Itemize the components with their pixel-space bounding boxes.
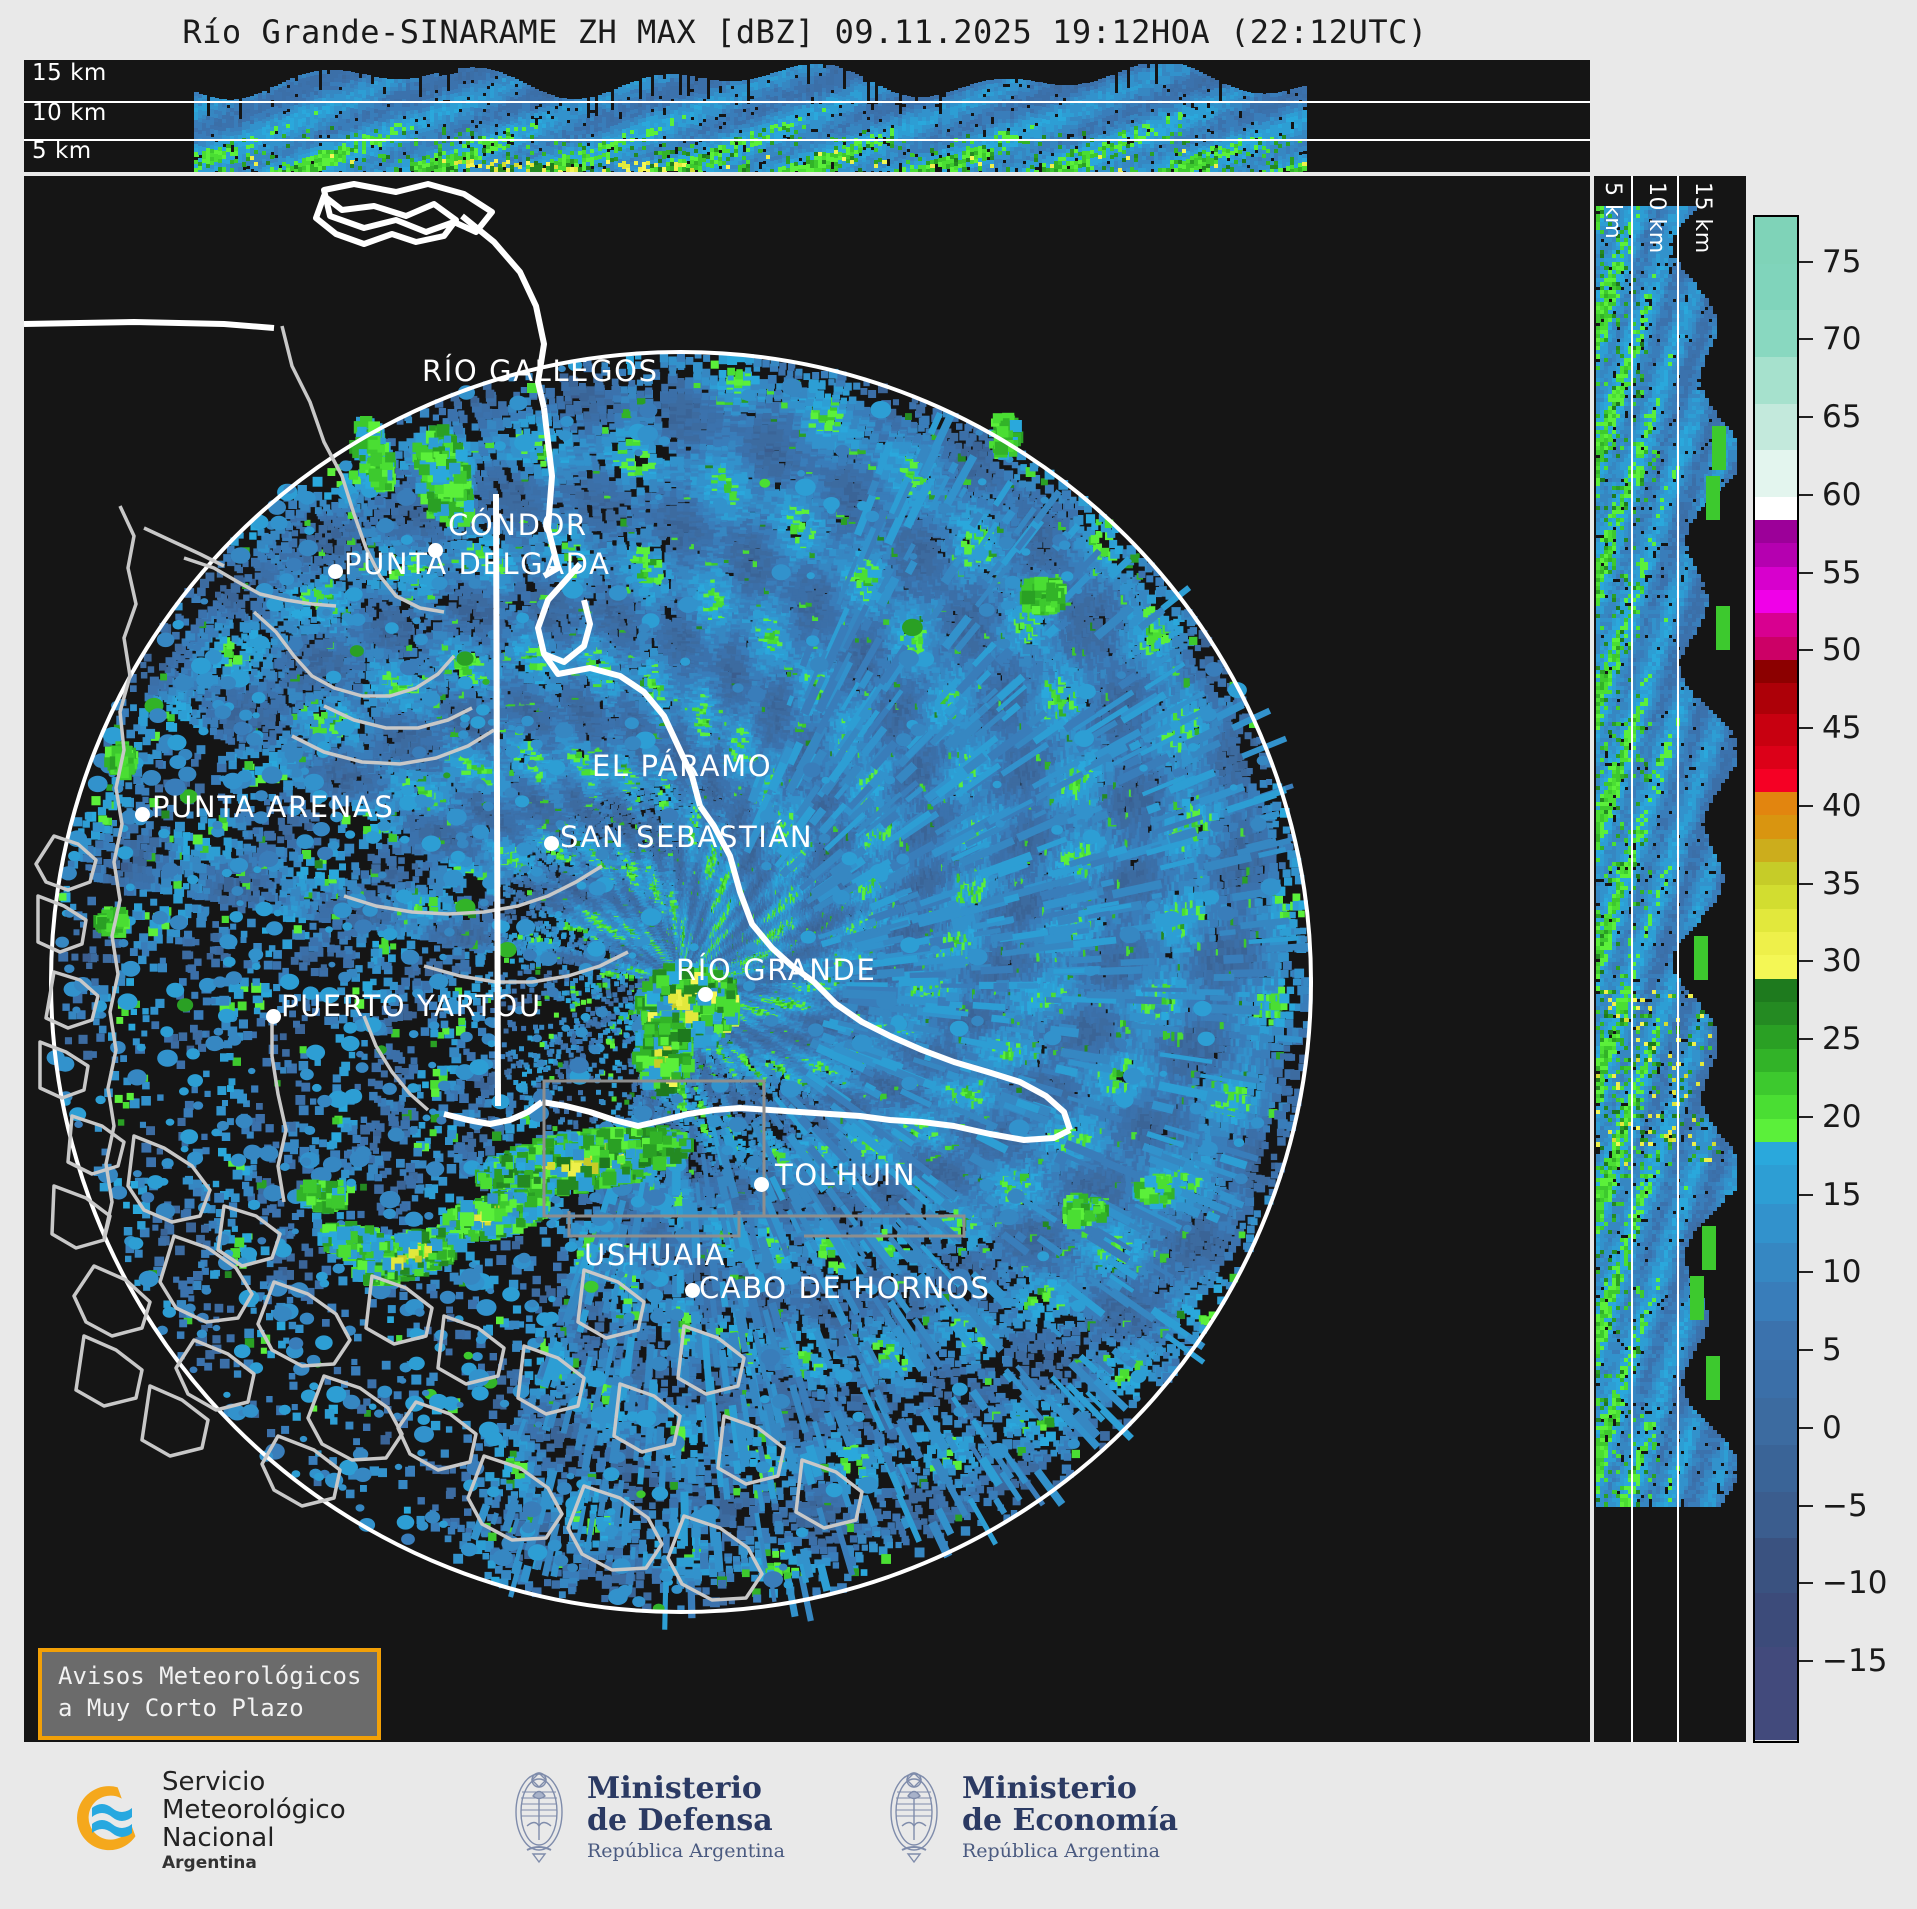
colorbar-tick: 35 — [1799, 866, 1861, 902]
colorbar-tick-value: −5 — [1822, 1488, 1868, 1524]
colorbar-band — [1755, 909, 1797, 932]
colorbar-tick-dash — [1799, 494, 1813, 496]
colorbar-tick-labels: 757065605550454035302520151050−5−10−15 — [1799, 215, 1909, 1743]
colorbar-tick-dash — [1799, 338, 1813, 340]
colorbar-tick-value: 50 — [1822, 632, 1861, 668]
colorbar-tick-value: 45 — [1822, 710, 1861, 746]
colorbar-tick-value: 60 — [1822, 477, 1861, 513]
radar-plan-view[interactable]: RÍO GALLEGOSCÓNDORPUNTA DELGADAEL PÁRAMO… — [24, 176, 1590, 1742]
top-xsec-label-10km: 10 km — [32, 100, 107, 126]
colorbar-tick: 15 — [1799, 1177, 1861, 1213]
colorbar-band — [1755, 1204, 1797, 1243]
colorbar-tick-value: 55 — [1822, 555, 1861, 591]
smn-line-3: Nacional — [162, 1824, 346, 1852]
colorbar-tick-dash — [1799, 1427, 1813, 1429]
colorbar-band — [1755, 1445, 1797, 1492]
colorbar-tick-dash — [1799, 572, 1813, 574]
right-xsec-label-15km: 15 km — [1690, 182, 1715, 254]
colorbar-band — [1755, 1538, 1797, 1592]
right-cross-section-canvas — [1594, 176, 1746, 1742]
colorbar-band — [1755, 1165, 1797, 1204]
height-gridline-5km-v — [1631, 176, 1633, 1742]
colorbar-band — [1755, 613, 1797, 636]
colorbar-tick-value: 5 — [1822, 1332, 1842, 1368]
colorbar-tick-value: 35 — [1822, 866, 1861, 902]
logo-ministerio-de-defensa: Ministerio de Defensa República Argentin… — [505, 1762, 785, 1872]
colorbar-tick-dash — [1799, 1271, 1813, 1273]
colorbar-tick-dash — [1799, 1349, 1813, 1351]
colorbar-band — [1755, 1142, 1797, 1165]
colorbar-band — [1755, 1282, 1797, 1321]
top-xsec-label-5km: 5 km — [32, 138, 92, 164]
smn-line-1: Servicio — [162, 1768, 346, 1796]
colorbar-band — [1755, 1095, 1797, 1118]
right-cross-section-panel: 5 km 10 km 15 km — [1594, 176, 1746, 1742]
radar-canvas — [24, 176, 1590, 1742]
colorbar-tick: 60 — [1799, 477, 1861, 513]
colorbar-band — [1755, 1002, 1797, 1025]
colorbar-band — [1755, 839, 1797, 862]
colorbar-tick: 30 — [1799, 943, 1861, 979]
page-title: Río Grande-SINARAME ZH MAX [dBZ] 09.11.2… — [0, 13, 1610, 51]
colorbar-band — [1755, 714, 1797, 745]
city-marker-dot — [685, 1283, 700, 1298]
colorbar-tick: 50 — [1799, 632, 1861, 668]
colorbar-tick: −15 — [1799, 1643, 1887, 1679]
height-gridline-5km — [24, 139, 1590, 141]
colorbar-tick: −10 — [1799, 1565, 1887, 1601]
colorbar-tick-value: 15 — [1822, 1177, 1861, 1213]
colorbar-band — [1755, 1025, 1797, 1048]
colorbar-tick-value: −10 — [1822, 1565, 1887, 1601]
colorbar-tick: 0 — [1799, 1410, 1842, 1446]
colorbar-tick-dash — [1799, 416, 1813, 418]
colorbar-tick-dash — [1799, 1038, 1813, 1040]
colorbar-tick-dash — [1799, 883, 1813, 885]
colorbar-tick-dash — [1799, 805, 1813, 807]
colorbar-band — [1755, 683, 1797, 714]
logo-ministerio-de-economia: Ministerio de Economía República Argenti… — [880, 1762, 1178, 1872]
colorbar-tick: 75 — [1799, 244, 1861, 280]
smn-line-2: Meteorológico — [162, 1796, 346, 1824]
colorbar — [1753, 215, 1799, 1743]
radar-product-page: Río Grande-SINARAME ZH MAX [dBZ] 09.11.2… — [0, 0, 1917, 1909]
colorbar-band — [1755, 1321, 1797, 1360]
colorbar-tick-value: 0 — [1822, 1410, 1842, 1446]
ministerio-economia-line-2: de Economía — [962, 1805, 1178, 1837]
colorbar-tick: 45 — [1799, 710, 1861, 746]
colorbar-tick-dash — [1799, 1582, 1813, 1584]
ministerio-defensa-line-2: de Defensa — [587, 1805, 785, 1837]
ministerio-defensa-line-3: República Argentina — [587, 1841, 785, 1861]
colorbar-band — [1755, 357, 1797, 404]
colorbar-band — [1755, 815, 1797, 838]
colorbar-band — [1755, 264, 1797, 311]
top-xsec-label-15km: 15 km — [32, 60, 107, 86]
city-marker-dot — [266, 1009, 281, 1024]
colorbar-tick-value: 25 — [1822, 1021, 1861, 1057]
colorbar-band — [1755, 450, 1797, 497]
argentina-coat-of-arms-icon — [505, 1762, 573, 1872]
right-xsec-label-10km: 10 km — [1644, 182, 1669, 254]
colorbar-band — [1755, 1647, 1797, 1740]
colorbar-band — [1755, 590, 1797, 613]
ministerio-defensa-line-1: Ministerio — [587, 1773, 785, 1805]
colorbar-band — [1755, 1119, 1797, 1142]
colorbar-tick-dash — [1799, 1660, 1813, 1662]
colorbar-band — [1755, 769, 1797, 792]
colorbar-tick-value: 65 — [1822, 399, 1861, 435]
avisos-line-1: Avisos Meteorológicos — [58, 1661, 361, 1693]
city-marker-dot — [135, 807, 150, 822]
colorbar-tick-value: 20 — [1822, 1099, 1861, 1135]
top-cross-section-canvas — [24, 60, 1590, 172]
height-gridline-10km-v — [1677, 176, 1679, 1742]
smn-line-4: Argentina — [162, 1854, 346, 1872]
top-cross-section-panel: 15 km 10 km 5 km — [24, 60, 1590, 172]
colorbar-tick: 55 — [1799, 555, 1861, 591]
colorbar-band — [1755, 1049, 1797, 1072]
colorbar-band — [1755, 955, 1797, 978]
colorbar-tick: −5 — [1799, 1488, 1868, 1524]
city-marker-dot — [328, 564, 343, 579]
colorbar-band — [1755, 746, 1797, 769]
colorbar-band — [1755, 1360, 1797, 1399]
colorbar-band — [1755, 1072, 1797, 1095]
avisos-line-2: a Muy Corto Plazo — [58, 1693, 361, 1725]
colorbar-band — [1755, 217, 1797, 264]
status-badge-avisos: Avisos Meteorológicos a Muy Corto Plazo — [38, 1648, 381, 1740]
colorbar-band — [1755, 862, 1797, 885]
city-marker-dot — [698, 987, 713, 1002]
colorbar-band — [1755, 497, 1797, 520]
colorbar-tick-value: −15 — [1822, 1643, 1887, 1679]
colorbar-tick-dash — [1799, 1194, 1813, 1196]
colorbar-tick-value: 30 — [1822, 943, 1861, 979]
colorbar-band — [1755, 792, 1797, 815]
colorbar-tick: 5 — [1799, 1332, 1842, 1368]
colorbar-tick-value: 10 — [1822, 1254, 1861, 1290]
colorbar-tick: 40 — [1799, 788, 1861, 824]
colorbar-band — [1755, 1398, 1797, 1445]
colorbar-tick: 20 — [1799, 1099, 1861, 1135]
city-marker-dot — [754, 1177, 769, 1192]
colorbar-tick: 10 — [1799, 1254, 1861, 1290]
city-marker-dot — [428, 543, 443, 558]
colorbar-band — [1755, 1492, 1797, 1539]
colorbar-tick-value: 40 — [1822, 788, 1861, 824]
colorbar-band — [1755, 885, 1797, 908]
colorbar-tick: 70 — [1799, 321, 1861, 357]
colorbar-tick-value: 70 — [1822, 321, 1861, 357]
smn-mark-icon — [58, 1774, 150, 1866]
colorbar-band — [1755, 979, 1797, 1002]
colorbar-tick-dash — [1799, 960, 1813, 962]
colorbar-tick-value: 75 — [1822, 244, 1861, 280]
colorbar-band — [1755, 660, 1797, 683]
colorbar-band — [1755, 543, 1797, 566]
footer-logos: Servicio Meteorológico Nacional Argentin… — [0, 1754, 1917, 1909]
colorbar-tick-dash — [1799, 1505, 1813, 1507]
colorbar-band — [1755, 1593, 1797, 1647]
city-marker-dot — [544, 836, 559, 851]
colorbar-tick-dash — [1799, 649, 1813, 651]
argentina-coat-of-arms-icon-2 — [880, 1762, 948, 1872]
ministerio-economia-line-1: Ministerio — [962, 1773, 1178, 1805]
colorbar-band — [1755, 637, 1797, 660]
colorbar-band — [1755, 932, 1797, 955]
right-xsec-label-5km: 5 km — [1600, 182, 1625, 239]
colorbar-band — [1755, 310, 1797, 357]
colorbar-band — [1755, 404, 1797, 451]
colorbar-tick: 25 — [1799, 1021, 1861, 1057]
colorbar-band — [1755, 1243, 1797, 1282]
colorbar-tick-dash — [1799, 261, 1813, 263]
colorbar-tick-dash — [1799, 1116, 1813, 1118]
ministerio-economia-line-3: República Argentina — [962, 1841, 1178, 1861]
colorbar-band — [1755, 520, 1797, 543]
colorbar-tick-dash — [1799, 727, 1813, 729]
colorbar-band — [1755, 567, 1797, 590]
height-gridline-10km — [24, 101, 1590, 103]
colorbar-tick: 65 — [1799, 399, 1861, 435]
logo-servicio-meteorologico-nacional: Servicio Meteorológico Nacional Argentin… — [58, 1768, 346, 1873]
